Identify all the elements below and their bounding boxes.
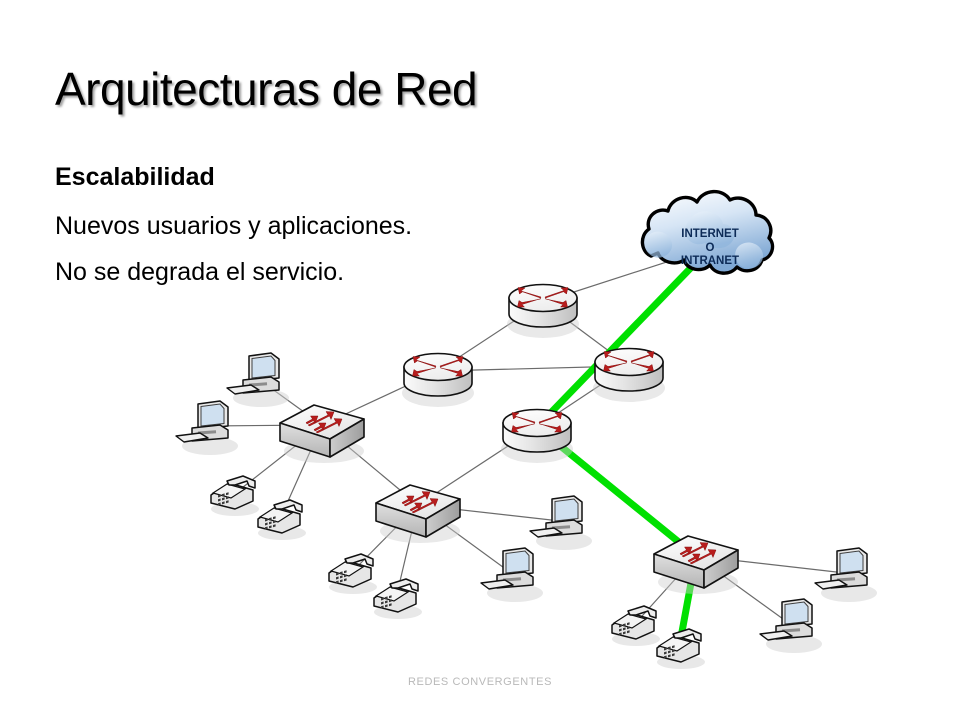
router-left-icon: [402, 354, 474, 408]
slide-canvas: Arquitecturas de Red Escalabilidad Nuevo…: [0, 0, 960, 720]
network-diagram: [0, 0, 960, 720]
pc-branch-upper-icon: [815, 548, 877, 602]
phone-branch-right-icon: [657, 629, 705, 669]
pc-left-upper-icon: [227, 353, 289, 407]
switch-middle-icon: [376, 485, 460, 543]
router-top-icon: [507, 285, 579, 339]
router-right-icon: [593, 349, 665, 403]
phone-left-upper-icon: [211, 476, 259, 516]
footer-text: REDES CONVERGENTES: [0, 676, 960, 688]
internet-cloud-icon: [642, 192, 772, 274]
switch-left-icon: [280, 405, 364, 463]
pc-middle-lower-icon: [481, 548, 543, 602]
phone-branch-left-icon: [612, 606, 660, 646]
phone-left-lower-icon: [258, 500, 306, 540]
router-center-icon: [501, 410, 573, 464]
pc-middle-upper-icon: [530, 496, 592, 550]
switch-new-branch-icon: [654, 536, 738, 594]
pc-left-lower-icon: [176, 401, 238, 455]
phone-middle-right-icon: [374, 579, 422, 619]
phone-middle-left-icon: [329, 554, 377, 594]
pc-branch-lower-icon: [760, 599, 822, 653]
